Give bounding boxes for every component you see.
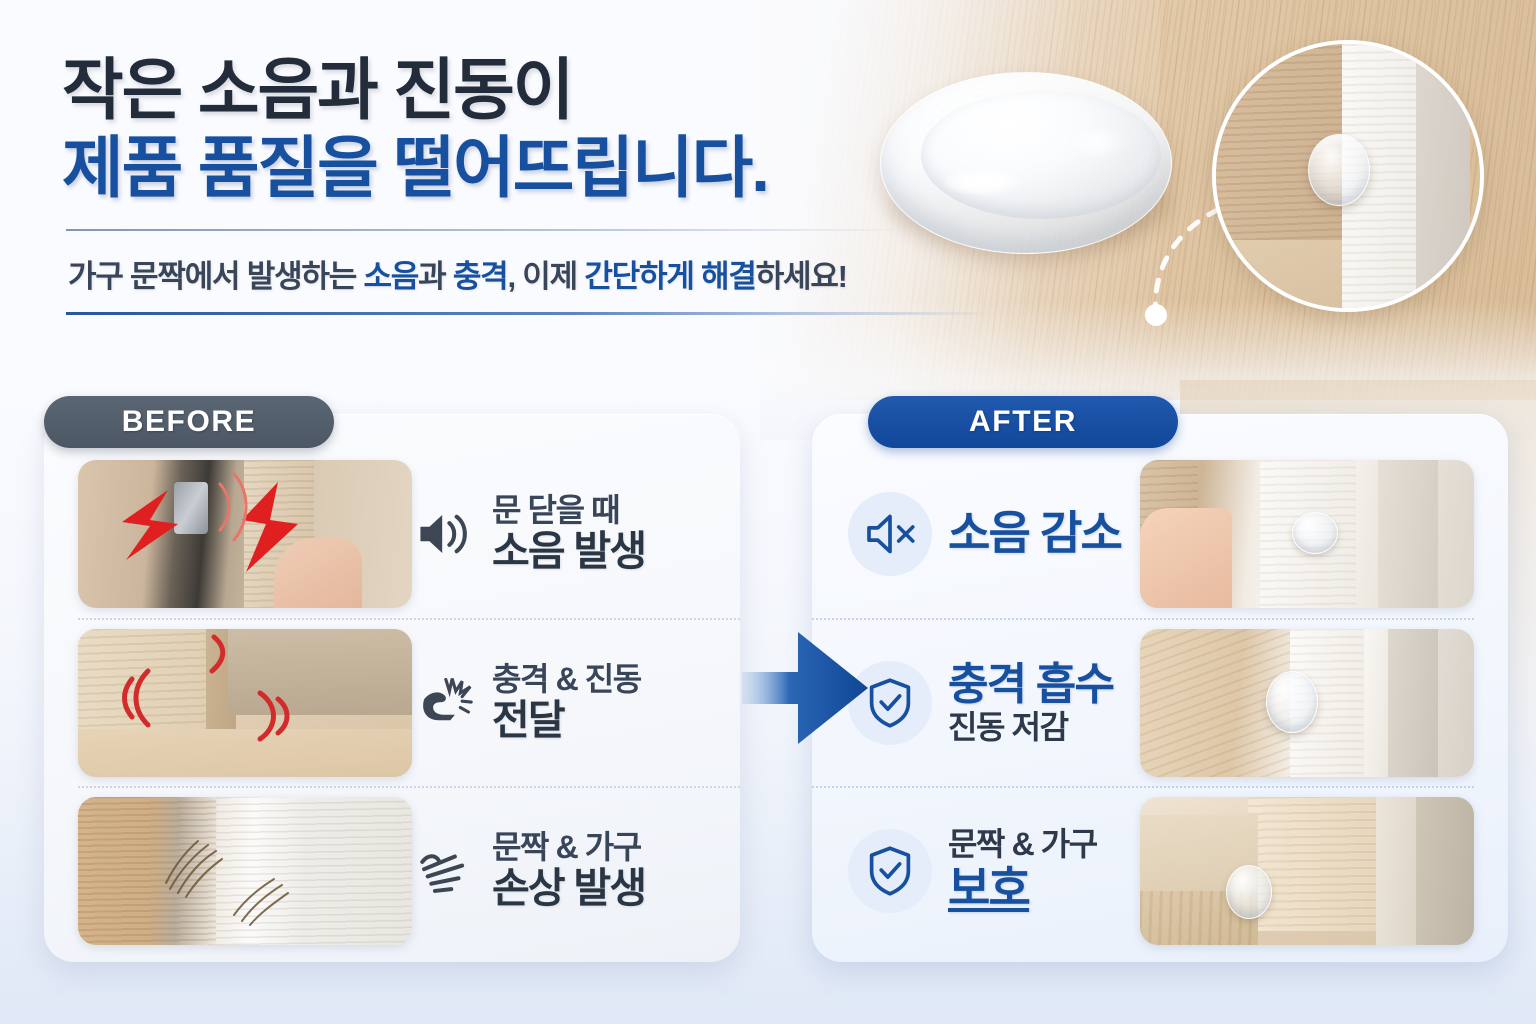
subtitle-emphasis: 소음 (363, 259, 418, 294)
inset-door-side (1416, 44, 1470, 312)
thumb-door-bottom-vibration (78, 629, 412, 777)
after-row-protect-big: 보호 (948, 863, 1097, 915)
before-panel: 문 닫을 때 소음 발생 (44, 414, 740, 962)
subtitle-text: , 이제 (507, 259, 584, 294)
thumb-pad-on-cabinet-bottom (1140, 797, 1474, 945)
bumper-highlight-1 (943, 169, 1021, 195)
before-row-noise-small: 문 닫을 때 (492, 493, 645, 529)
thumb-door-closing-noise (78, 460, 412, 608)
impact-burst-icon (412, 671, 476, 735)
inset-bumper-pad (1308, 134, 1370, 206)
thumb-scratched-panel (78, 797, 412, 945)
subtitle-text: 과 (418, 259, 453, 294)
after-row-protect-text: 문짝 & 가구 보호 (812, 827, 1140, 914)
after-row-protect-small: 문짝 & 가구 (948, 827, 1097, 863)
header-block: 작은 소음과 진동이 제품 품질을 떨어뜨립니다. 가구 문짝에서 발생하는 소… (62, 52, 892, 315)
before-row-damage-big: 손상 발생 (492, 866, 645, 912)
bumper-highlight-2 (1067, 125, 1125, 159)
before-row-vibration-small: 충격 & 진동 (492, 662, 641, 698)
before-row-vibration: 충격 & 진동 전달 (78, 618, 740, 786)
headline-line-2: 제품 품질을 떨어뜨립니다. (62, 130, 892, 208)
after-row-shock-big: 충격 흡수 (948, 660, 1113, 709)
inset-floor (1212, 240, 1352, 312)
subtitle-emphasis: 간단하게 해결 (584, 259, 755, 294)
after-row-noise-big: 소음 감소 (948, 508, 1121, 560)
before-rows: 문 닫을 때 소음 발생 (44, 450, 740, 954)
before-row-damage-text: 문짝 & 가구 손상 발생 (412, 830, 740, 912)
subtitle-text: 가구 문짝에서 발생하는 (68, 259, 363, 294)
before-row-damage-small: 문짝 & 가구 (492, 830, 645, 866)
speaker-muted-icon (848, 492, 932, 576)
subtitle-text: 하세요! (756, 259, 847, 294)
subtitle: 가구 문짝에서 발생하는 소음과 충격, 이제 간단하게 해결하세요! (68, 251, 892, 296)
after-row-noise-reduction: 소음 감소 (812, 450, 1474, 618)
subtitle-emphasis: 충격 (453, 259, 508, 294)
before-row-vibration-text: 충격 & 진동 전달 (412, 662, 740, 744)
before-badge: BEFORE (44, 396, 334, 448)
silicone-bumper-pad (880, 72, 1172, 254)
before-row-noise: 문 닫을 때 소음 발생 (78, 450, 740, 618)
after-panel: 소음 감소 충격 (812, 414, 1508, 962)
speaker-loud-icon (412, 502, 476, 566)
before-row-damage: 문짝 & 가구 손상 발생 (78, 786, 740, 954)
headline-line-1: 작은 소음과 진동이 (62, 52, 892, 130)
headline-divider (66, 229, 911, 231)
before-row-vibration-big: 전달 (492, 698, 641, 744)
after-badge: AFTER (868, 396, 1178, 448)
scratch-icon (412, 839, 476, 903)
after-row-shock-small: 진동 저감 (948, 710, 1113, 746)
before-to-after-arrow (742, 622, 868, 754)
thumb-pad-on-door-edge (1140, 629, 1474, 777)
after-row-protect: 문짝 & 가구 보호 (812, 786, 1474, 954)
before-row-noise-text: 문 닫을 때 소음 발생 (412, 493, 740, 575)
after-row-noise-text: 소음 감소 (812, 492, 1140, 576)
after-rows: 소음 감소 충격 (812, 450, 1508, 954)
shield-check-icon (848, 829, 932, 913)
bumper-dome (921, 91, 1161, 219)
before-row-noise-big: 소음 발생 (492, 529, 645, 575)
subtitle-divider (66, 312, 991, 315)
thumb-hand-closing-with-pad (1140, 460, 1474, 608)
product-closeup-inset (1212, 40, 1484, 312)
after-row-shock-absorb: 충격 흡수 진동 저감 (812, 618, 1474, 786)
